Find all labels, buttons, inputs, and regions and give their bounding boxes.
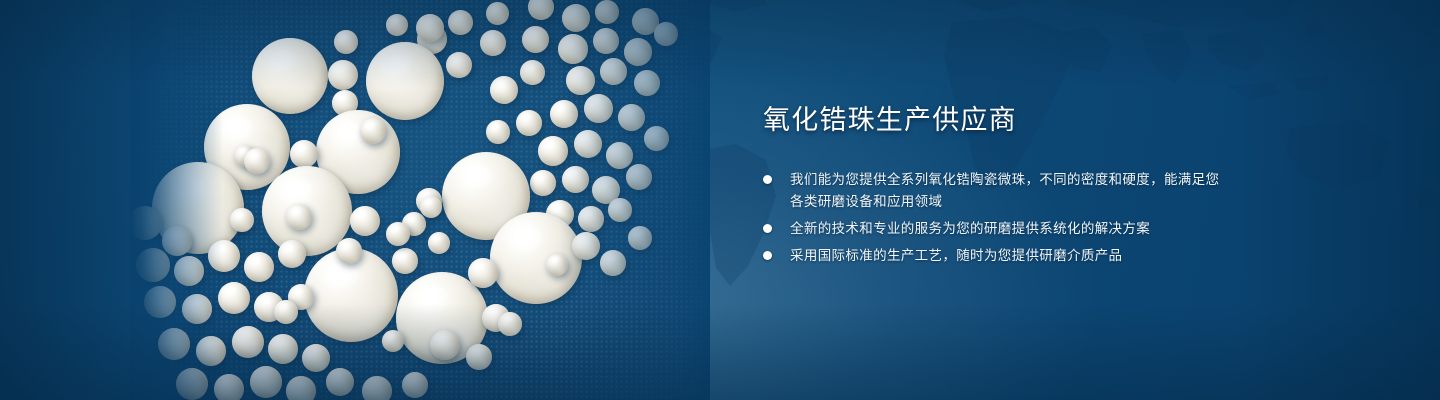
bead xyxy=(644,126,669,151)
bead xyxy=(624,38,652,66)
bead xyxy=(600,58,627,85)
feature-list: 我们能为您提供全系列氧化锆陶瓷微珠，不同的密度和硬度，能满足您各类研磨设备和应用… xyxy=(763,169,1233,267)
bead xyxy=(208,240,240,272)
bead xyxy=(562,166,589,193)
bead xyxy=(516,110,542,136)
bead xyxy=(562,4,590,32)
bead xyxy=(328,60,358,90)
bead xyxy=(595,0,619,24)
bead xyxy=(366,42,444,120)
bead xyxy=(416,14,444,42)
bead xyxy=(392,248,418,274)
bead xyxy=(250,366,282,398)
bead xyxy=(230,208,254,232)
bead xyxy=(522,26,549,53)
bead xyxy=(446,52,472,78)
list-item-text: 我们能为您提供全系列氧化锆陶瓷微珠，不同的密度和硬度，能满足您各类研磨设备和应用… xyxy=(790,169,1222,213)
bead xyxy=(468,258,498,288)
bead xyxy=(498,312,522,336)
bead xyxy=(244,148,270,174)
bead xyxy=(600,250,626,276)
list-item-text: 全新的技术和专业的服务为您的研磨提供系统化的解决方案 xyxy=(790,218,1222,240)
bead xyxy=(626,164,652,190)
bead xyxy=(618,104,645,131)
bead xyxy=(286,376,316,400)
bead xyxy=(362,376,392,400)
bead xyxy=(546,254,568,276)
bead xyxy=(528,0,554,20)
bead xyxy=(252,38,328,114)
bead xyxy=(466,344,492,370)
bead xyxy=(182,294,212,324)
page-title: 氧化锆珠生产供应商 xyxy=(763,104,1233,138)
bullet-dot-icon xyxy=(763,175,772,184)
bead xyxy=(386,222,410,246)
bead xyxy=(574,130,602,158)
bead xyxy=(490,76,518,104)
bead xyxy=(350,206,380,236)
bead xyxy=(634,70,660,96)
bead xyxy=(420,196,442,218)
bead xyxy=(386,14,408,36)
bead xyxy=(144,286,176,318)
bead xyxy=(326,368,354,396)
banner-copy: 氧化锆珠生产供应商 我们能为您提供全系列氧化锆陶瓷微珠，不同的密度和硬度，能满足… xyxy=(763,104,1233,272)
bead xyxy=(274,300,298,324)
hero-banner: 氧化锆珠生产供应商 我们能为您提供全系列氧化锆陶瓷微珠，不同的密度和硬度，能满足… xyxy=(0,0,1440,400)
bead xyxy=(578,206,604,232)
bead xyxy=(538,136,568,166)
bead xyxy=(162,226,192,256)
bead xyxy=(336,238,362,264)
list-item: 我们能为您提供全系列氧化锆陶瓷微珠，不同的密度和硬度，能满足您各类研磨设备和应用… xyxy=(763,169,1233,213)
bead xyxy=(490,212,582,304)
bead xyxy=(174,256,204,286)
bead xyxy=(430,330,460,360)
bead xyxy=(550,100,578,128)
bead xyxy=(268,334,298,364)
bead xyxy=(572,232,600,260)
list-item: 全新的技术和专业的服务为您的研磨提供系统化的解决方案 xyxy=(763,218,1233,240)
bead xyxy=(278,240,306,268)
list-item-text: 采用国际标准的生产工艺，随时为您提供研磨介质产品 xyxy=(790,245,1222,267)
bead xyxy=(136,248,170,282)
bead xyxy=(334,30,358,54)
bead xyxy=(382,330,404,352)
bead xyxy=(606,142,633,169)
bead xyxy=(530,170,556,196)
bead xyxy=(428,232,450,254)
bead xyxy=(402,372,428,398)
bead xyxy=(486,120,510,144)
bead xyxy=(480,30,506,56)
bead xyxy=(520,60,545,85)
bead xyxy=(286,204,312,230)
bead xyxy=(486,2,509,25)
bead xyxy=(158,328,190,360)
bead xyxy=(593,28,619,54)
bead xyxy=(654,22,678,46)
bead xyxy=(302,344,330,372)
bead xyxy=(448,10,473,35)
bead xyxy=(608,198,632,222)
bead xyxy=(244,252,274,282)
bead xyxy=(218,282,250,314)
bullet-dot-icon xyxy=(763,224,772,233)
bead xyxy=(130,206,162,240)
list-item: 采用国际标准的生产工艺，随时为您提供研磨介质产品 xyxy=(763,245,1233,267)
bead xyxy=(176,368,208,400)
bead-cluster xyxy=(130,0,710,400)
bead xyxy=(558,34,588,64)
bead xyxy=(232,326,264,358)
bead xyxy=(584,94,613,123)
bead xyxy=(566,66,595,95)
bead xyxy=(290,140,318,168)
zirconia-beads-photo xyxy=(130,0,710,400)
bead xyxy=(196,336,226,366)
bead xyxy=(360,118,386,144)
bead xyxy=(628,226,652,250)
bullet-dot-icon xyxy=(763,251,772,260)
bead xyxy=(214,374,244,400)
